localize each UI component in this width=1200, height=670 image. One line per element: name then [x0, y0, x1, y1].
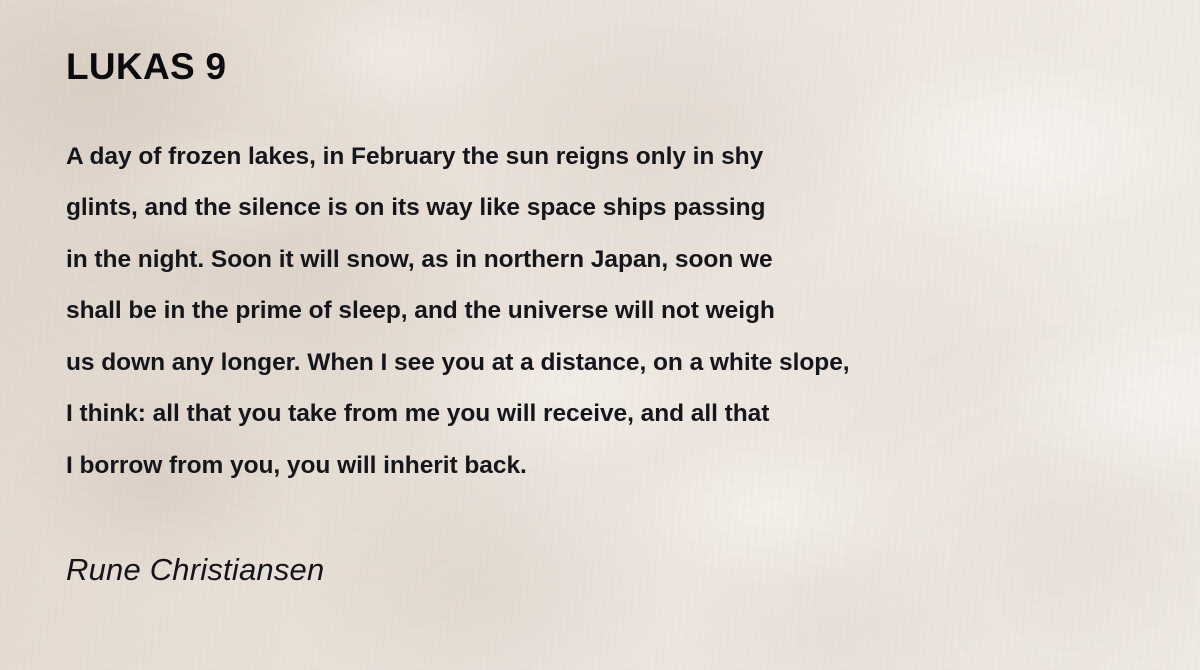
poem-line: I think: all that you take from me you w… — [66, 388, 1160, 440]
poem-line: I borrow from you, you will inherit back… — [66, 440, 1160, 492]
poem-body: A day of frozen lakes, in February the s… — [66, 88, 1160, 492]
poem-author: Rune Christiansen — [66, 491, 1160, 588]
poem-card: LUKAS 9 A day of frozen lakes, in Februa… — [0, 0, 1200, 670]
poem-line: A day of frozen lakes, in February the s… — [66, 131, 1160, 183]
poem-line: glints, and the silence is on its way li… — [66, 182, 1160, 234]
poem-title: LUKAS 9 — [66, 0, 1160, 88]
poem-line: shall be in the prime of sleep, and the … — [66, 285, 1160, 337]
poem-content: LUKAS 9 A day of frozen lakes, in Februa… — [0, 0, 1200, 588]
poem-line: us down any longer. When I see you at a … — [66, 337, 1160, 389]
poem-line: in the night. Soon it will snow, as in n… — [66, 234, 1160, 286]
